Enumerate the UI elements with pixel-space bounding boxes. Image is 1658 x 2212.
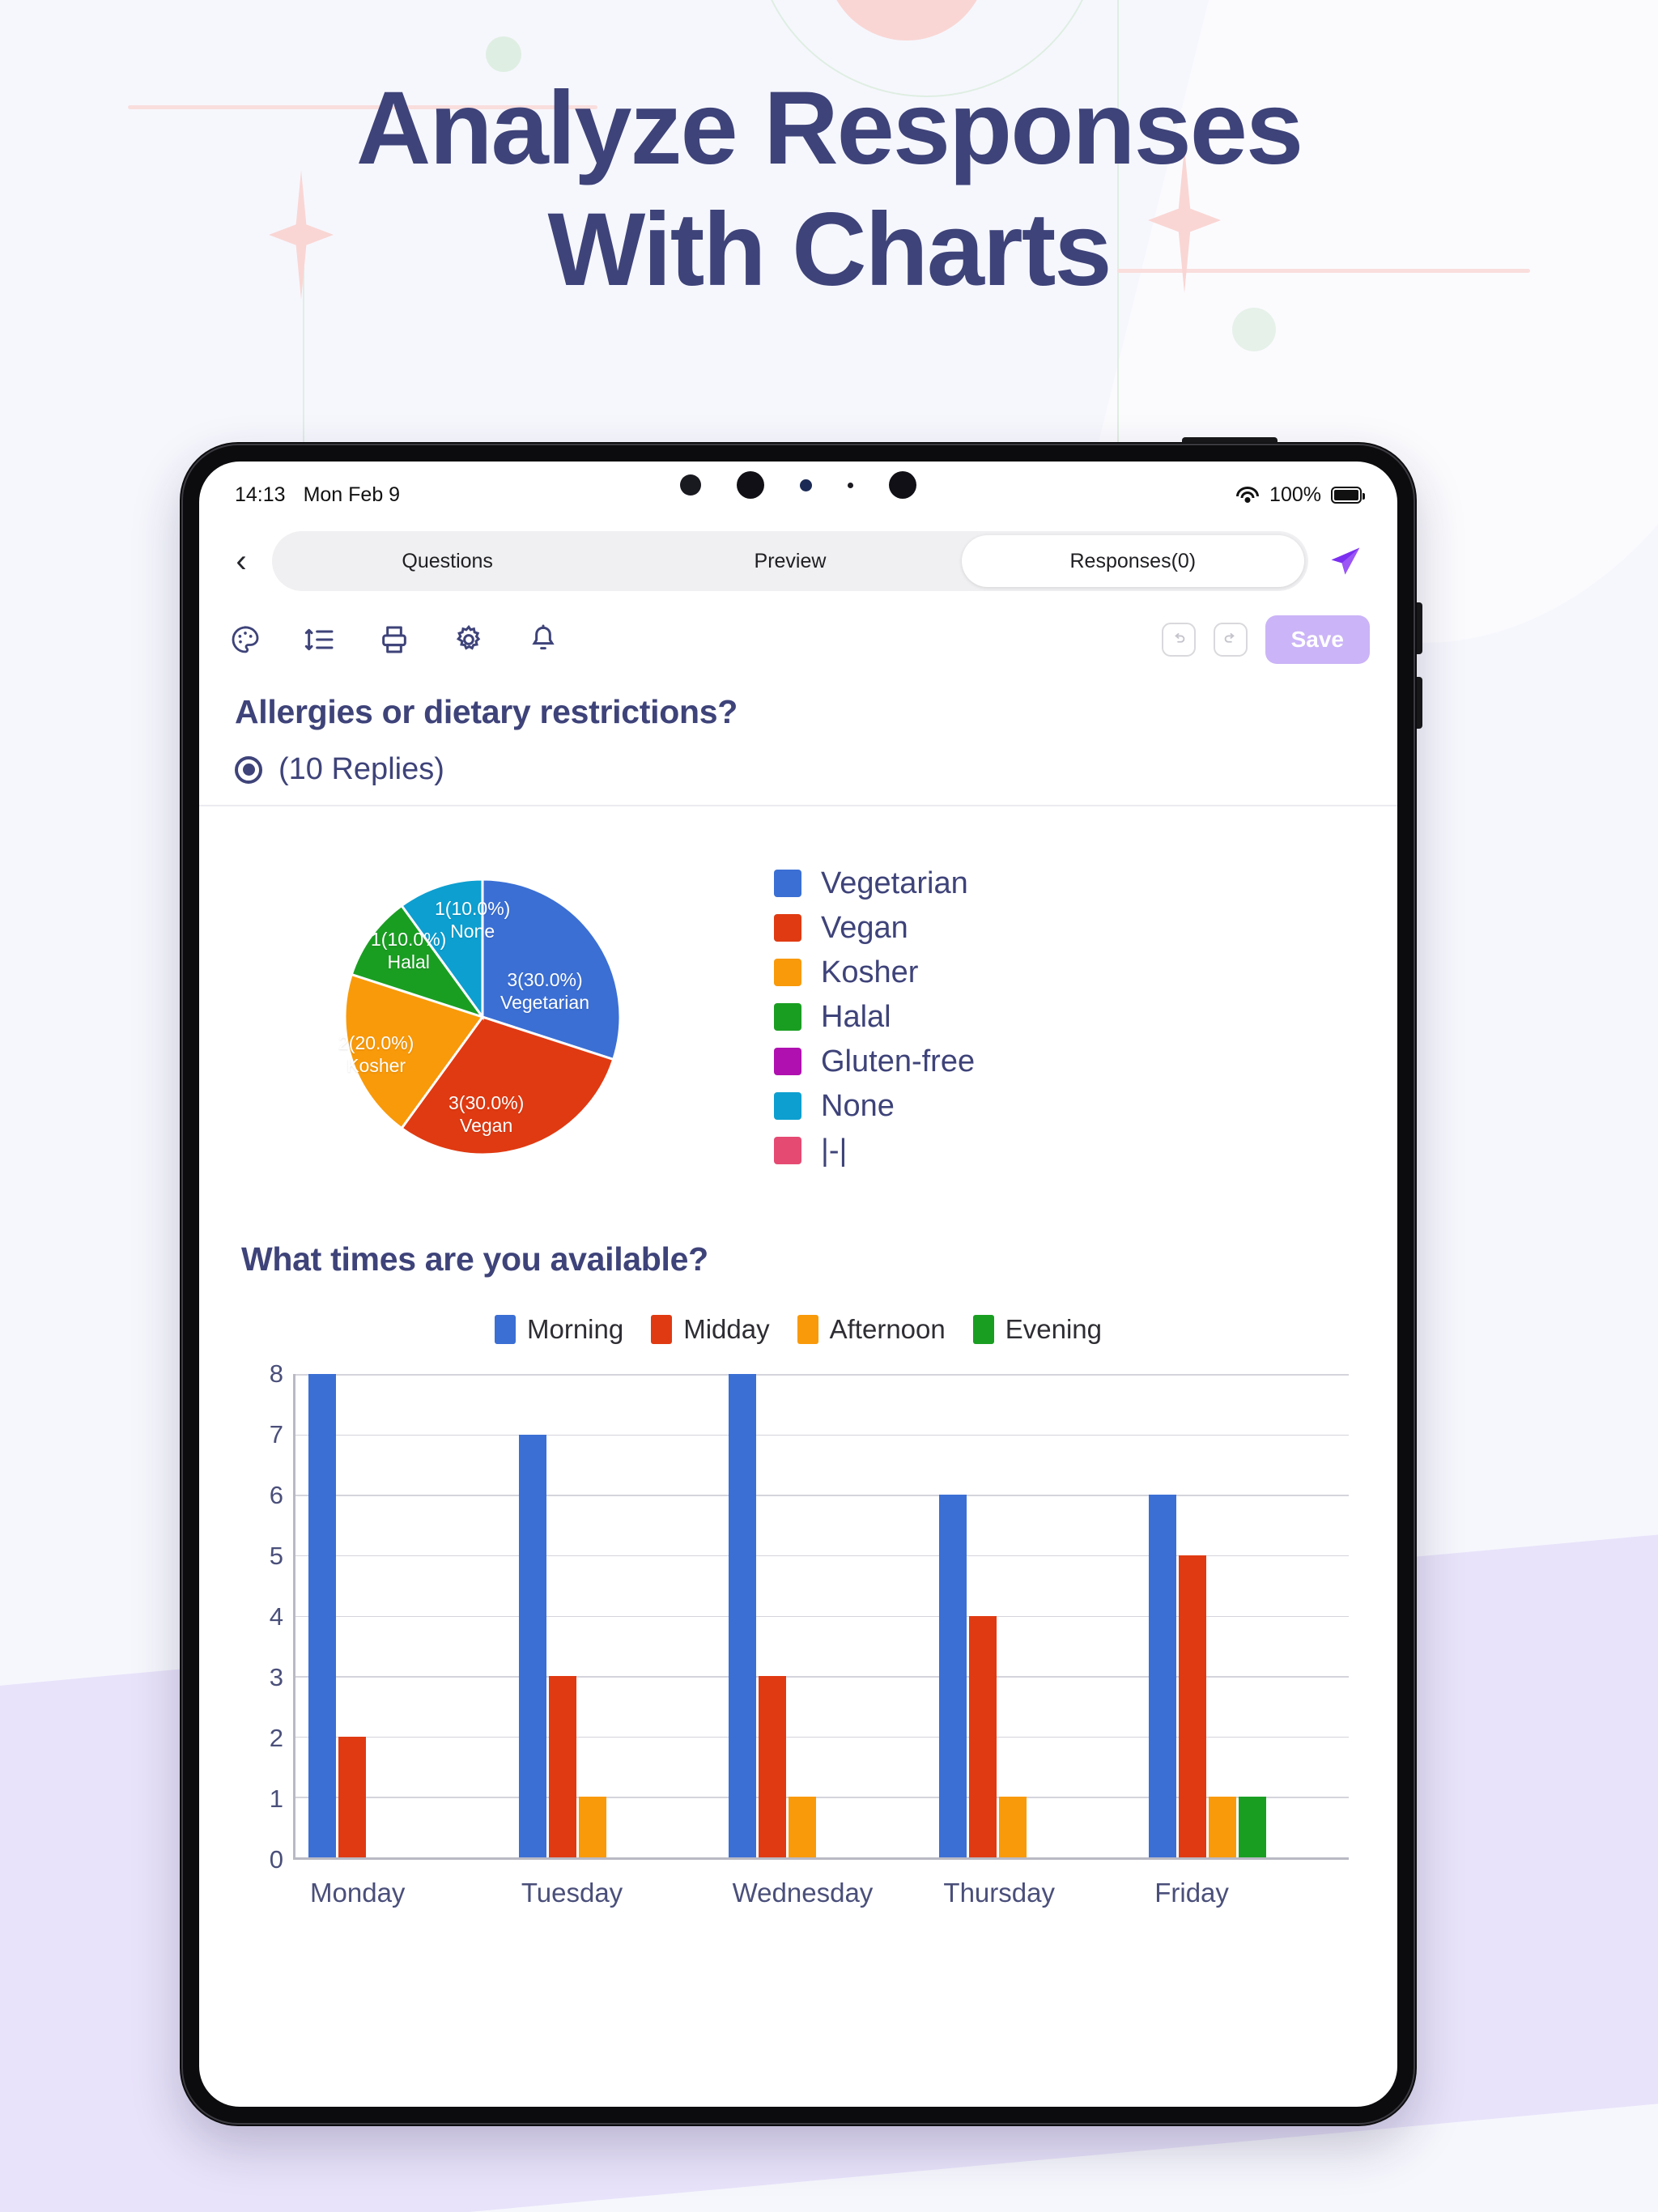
ambient-light-sensor-icon: [848, 483, 853, 488]
tablet-screen: 14:13 Mon Feb 9 100% ‹ Questions Preview…: [199, 462, 1397, 2107]
legend-swatch-vegan: [774, 914, 801, 942]
y-tick: 5: [270, 1542, 283, 1571]
bar-morning-tuesday[interactable]: [519, 1435, 546, 1857]
gear-icon[interactable]: [450, 621, 487, 658]
bar-morning-friday[interactable]: [1149, 1495, 1176, 1857]
face-id-sensor-icon: [800, 479, 812, 491]
y-tick: 7: [270, 1420, 283, 1449]
x-tick-label: Tuesday: [515, 1878, 705, 1908]
x-tick-label: Thursday: [937, 1878, 1127, 1908]
chevron-left-icon[interactable]: ‹: [223, 543, 259, 579]
bar-midday-thursday[interactable]: [969, 1616, 997, 1858]
pie-chart: 3(30.0%) Vegetarian 3(30.0%) Vegan 2(20.…: [199, 847, 766, 1187]
tab-segmented-control[interactable]: Questions Preview Responses(0): [272, 531, 1308, 591]
legend-label: Afternoon: [830, 1314, 946, 1345]
legend-swatch-evening: [973, 1315, 994, 1344]
question-two-title: What times are you available?: [199, 1219, 1397, 1287]
legend-swatch-halal: [774, 1003, 801, 1031]
bar-midday-tuesday[interactable]: [549, 1676, 576, 1857]
save-button[interactable]: Save: [1265, 615, 1370, 664]
tab-responses[interactable]: Responses(0): [962, 535, 1304, 587]
bar-group: [1149, 1374, 1338, 1857]
front-camera-array: [180, 471, 1417, 499]
camera-lens-icon: [737, 471, 764, 499]
tablet-device-frame: 14:13 Mon Feb 9 100% ‹ Questions Preview…: [180, 442, 1417, 2126]
legend-swatch-midday: [651, 1315, 672, 1344]
bar-midday-wednesday[interactable]: [759, 1676, 786, 1857]
send-paper-plane-icon[interactable]: [1321, 543, 1368, 579]
legend-swatch-gluten-free: [774, 1048, 801, 1075]
legend-label: Evening: [1005, 1314, 1102, 1345]
legend-item[interactable]: Afternoon: [797, 1314, 946, 1345]
legend-item[interactable]: Vegan: [774, 911, 975, 946]
page-title-line1: Analyze Responses: [356, 70, 1302, 186]
bar-midday-friday[interactable]: [1179, 1555, 1206, 1857]
legend-label: Vegetarian: [821, 866, 968, 901]
legend-label: Vegan: [821, 911, 908, 946]
pie-chart-svg: [321, 847, 644, 1187]
legend-label: Morning: [527, 1314, 623, 1345]
legend-label: Gluten-free: [821, 1044, 975, 1079]
legend-item[interactable]: Morning: [495, 1314, 623, 1345]
legend-swatch-morning: [495, 1315, 516, 1344]
bar-group: [729, 1374, 918, 1857]
navigation-bar: ‹ Questions Preview Responses(0): [199, 513, 1397, 604]
y-tick: 8: [270, 1359, 283, 1389]
volume-down-button[interactable]: [1417, 677, 1422, 729]
x-tick-label: Monday: [304, 1878, 494, 1908]
legend-label: Kosher: [821, 955, 918, 990]
bar-afternoon-thursday[interactable]: [999, 1797, 1027, 1857]
bar-group: [939, 1374, 1129, 1857]
radio-selected-icon: [235, 756, 262, 784]
page-title: Analyze Responses With Charts: [0, 77, 1658, 302]
page-title-line2: With Charts: [0, 198, 1658, 302]
line-spacing-list-icon[interactable]: [301, 621, 338, 658]
sensor-icon: [680, 474, 701, 496]
bar-midday-monday[interactable]: [338, 1737, 366, 1857]
bar-chart-plot: 0 1 2 3 4 5 6 7 8: [248, 1374, 1349, 1860]
legend-item[interactable]: Evening: [973, 1314, 1102, 1345]
bar-morning-monday[interactable]: [308, 1374, 336, 1857]
bar-group: [519, 1374, 708, 1857]
legend-label: Halal: [821, 1000, 891, 1035]
y-tick: 0: [270, 1845, 283, 1874]
y-tick: 6: [270, 1481, 283, 1510]
tab-preview[interactable]: Preview: [619, 535, 961, 587]
legend-swatch-other: [774, 1137, 801, 1164]
legend-item[interactable]: |-|: [774, 1134, 975, 1168]
palette-icon[interactable]: [227, 621, 264, 658]
x-tick-label: Wednesday: [726, 1878, 916, 1908]
x-axis-labels: Monday Tuesday Wednesday Thursday Friday: [293, 1860, 1349, 1908]
bar-morning-wednesday[interactable]: [729, 1374, 756, 1857]
tab-questions[interactable]: Questions: [276, 535, 619, 587]
power-button[interactable]: [1182, 437, 1278, 443]
legend-label: Midday: [683, 1314, 769, 1345]
legend-item[interactable]: Vegetarian: [774, 866, 975, 901]
printer-icon[interactable]: [376, 621, 413, 658]
undo-icon[interactable]: [1162, 623, 1196, 657]
green-dot-decoration: [1232, 308, 1276, 351]
y-tick: 3: [270, 1663, 283, 1692]
editor-toolbar: Save: [199, 604, 1397, 678]
pie-chart-section: 3(30.0%) Vegetarian 3(30.0%) Vegan 2(20.…: [199, 806, 1397, 1219]
legend-swatch-none: [774, 1092, 801, 1120]
pie-chart-legend: Vegetarian Vegan Kosher Halal Gluten-fre…: [766, 866, 975, 1168]
legend-label: None: [821, 1089, 895, 1124]
legend-swatch-afternoon: [797, 1315, 818, 1344]
bar-chart-legend: Morning Midday Afternoon Evening: [199, 1287, 1397, 1366]
bar-group: [308, 1374, 498, 1857]
volume-up-button[interactable]: [1417, 602, 1422, 654]
legend-swatch-kosher: [774, 959, 801, 986]
redo-icon[interactable]: [1214, 623, 1248, 657]
legend-label: |-|: [821, 1134, 847, 1168]
green-dot-decoration: [486, 36, 521, 72]
legend-item[interactable]: Halal: [774, 1000, 975, 1035]
legend-item[interactable]: Kosher: [774, 955, 975, 990]
bar-groups: [298, 1374, 1349, 1857]
bell-icon[interactable]: [525, 621, 562, 658]
question-one-title: Allergies or dietary restrictions?: [199, 678, 1397, 731]
legend-item[interactable]: None: [774, 1089, 975, 1124]
bar-morning-thursday[interactable]: [939, 1495, 967, 1857]
y-axis: 0 1 2 3 4 5 6 7 8: [248, 1374, 291, 1860]
y-tick: 1: [270, 1784, 283, 1814]
plot-grid: [293, 1374, 1349, 1860]
bar-afternoon-tuesday[interactable]: [579, 1797, 606, 1857]
replies-count-label: (10 Replies): [278, 752, 444, 787]
bar-afternoon-friday[interactable]: [1209, 1797, 1236, 1857]
legend-item[interactable]: Midday: [651, 1314, 769, 1345]
y-tick: 4: [270, 1602, 283, 1631]
question-one-replies: (10 Replies): [199, 731, 1397, 805]
bar-evening-friday[interactable]: [1239, 1797, 1266, 1857]
legend-swatch-vegetarian: [774, 870, 801, 897]
camera-lens-icon: [889, 471, 916, 499]
bar-afternoon-wednesday[interactable]: [789, 1797, 816, 1857]
y-tick: 2: [270, 1724, 283, 1753]
x-tick-label: Friday: [1148, 1878, 1338, 1908]
legend-item[interactable]: Gluten-free: [774, 1044, 975, 1079]
